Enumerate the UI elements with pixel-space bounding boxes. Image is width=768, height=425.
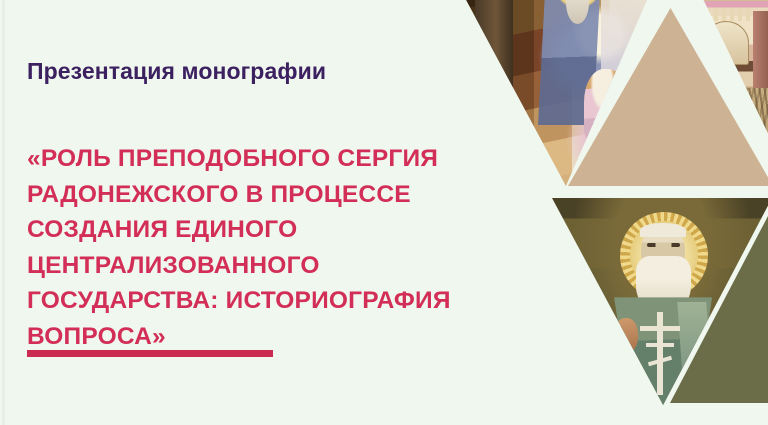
icon-blessing-hand — [614, 318, 638, 353]
miniature-gate-arch-accent — [703, 21, 749, 65]
title-line-4: ЦЕНТРАЛИЗОВАННОГО — [27, 248, 472, 284]
title-underline-rule — [27, 350, 273, 357]
painting-tree-trunk-accent — [475, 0, 513, 169]
icon-cross-main-bar — [646, 343, 675, 348]
icon-eyes — [647, 243, 680, 248]
title-line-6: ВОПРОСА» — [27, 319, 472, 355]
title-line-1: «РОЛЬ ПРЕПОДОБНОГО СЕРГИЯ — [27, 141, 472, 177]
slide-text-column: Презентация монографии «РОЛЬ ПРЕПОДОБНОГ… — [27, 0, 457, 425]
title-line-5: ГОСУДАРСТВА: ИСТОРИОГРАФИЯ — [27, 283, 472, 319]
miniature-crenellation-accent — [698, 9, 755, 21]
icon-cross-upper-bar — [640, 326, 680, 331]
presentation-slide: Презентация монографии «РОЛЬ ПРЕПОДОБНОГ… — [0, 0, 768, 425]
miniature-pillar-accent — [753, 11, 768, 88]
slide-title: «РОЛЬ ПРЕПОДОБНОГО СЕРГИЯ РАДОНЕЖСКОГО В… — [27, 141, 472, 354]
icon-hairline — [640, 223, 686, 237]
title-line-2: РАДОНЕЖСКОГО В ПРОЦЕССЕ — [27, 177, 472, 213]
icon-cross-vertical — [657, 312, 663, 395]
triangle-mosaic — [440, 0, 768, 425]
title-line-3: СОЗДАНИЯ ЕДИНОГО — [27, 212, 472, 248]
left-edge-rule — [2, 0, 5, 425]
slide-eyebrow-label: Презентация монографии — [27, 58, 326, 85]
